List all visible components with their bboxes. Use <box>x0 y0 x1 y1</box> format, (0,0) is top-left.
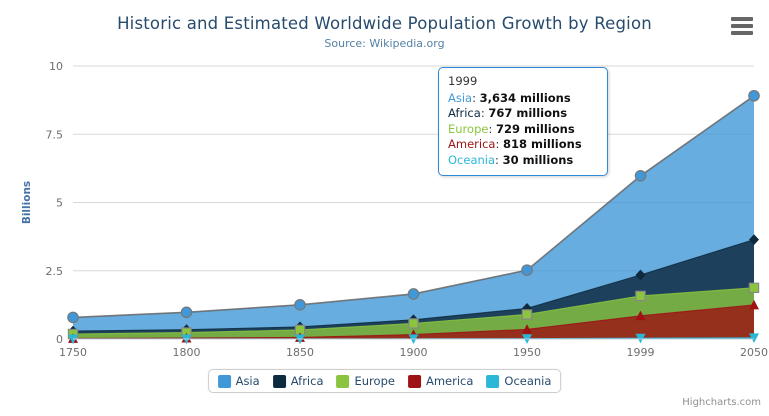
datapoint-europe-1900[interactable] <box>409 319 418 328</box>
x-axis-label-1999: 1999 <box>627 346 655 359</box>
legend-item-label: America <box>426 374 473 388</box>
menu-bar-3 <box>731 31 753 35</box>
legend-item-label: Asia <box>236 374 260 388</box>
legend-item-label: Europe <box>355 374 395 388</box>
datapoint-europe-2050[interactable] <box>749 283 758 292</box>
highcharts-container: Historic and Estimated Worldwide Populat… <box>0 0 769 416</box>
legend-item-asia[interactable]: Asia <box>218 374 260 388</box>
tooltip-row: Europe: 729 millions <box>448 122 598 138</box>
hamburger-menu-icon[interactable] <box>731 17 753 35</box>
y-axis-label-7.5: 7.5 <box>46 128 64 141</box>
tooltip-series-name: Asia <box>448 91 472 105</box>
tooltip-separator: : <box>495 137 503 151</box>
tooltip-series-name: Africa <box>448 106 481 120</box>
menu-bar-1 <box>731 17 753 21</box>
datapoint-asia-1750[interactable] <box>68 312 78 322</box>
tooltip-row: America: 818 millions <box>448 137 598 153</box>
tooltip-row: Oceania: 30 millions <box>448 153 598 169</box>
tooltip-series-value: 729 millions <box>496 122 575 136</box>
datapoint-europe-1950[interactable] <box>522 310 531 319</box>
tooltip-header: 1999 <box>448 74 598 90</box>
legend-item-africa[interactable]: Africa <box>273 374 324 388</box>
chart-tooltip: 1999 Asia: 3,634 millionsAfrica: 767 mil… <box>438 67 608 176</box>
legend-swatch-icon <box>486 375 499 388</box>
legend-swatch-icon <box>273 375 286 388</box>
datapoint-asia-1950[interactable] <box>522 265 532 275</box>
legend-swatch-icon <box>337 375 350 388</box>
datapoint-asia-1999[interactable] <box>635 171 645 181</box>
tooltip-series-value: 818 millions <box>503 137 582 151</box>
datapoint-asia-1850[interactable] <box>295 300 305 310</box>
menu-bar-2 <box>731 24 753 28</box>
legend-item-label: Oceania <box>504 374 551 388</box>
x-axis-label-2050: 2050 <box>740 346 768 359</box>
tooltip-row: Asia: 3,634 millions <box>448 91 598 107</box>
y-axis-label-10: 10 <box>49 60 63 73</box>
chart-plot-area[interactable]: 02.557.5101750180018501900195019992050Bi… <box>0 0 769 416</box>
x-axis-label-1900: 1900 <box>400 346 428 359</box>
x-axis-label-1750: 1750 <box>59 346 87 359</box>
tooltip-series-value: 3,634 millions <box>480 91 571 105</box>
y-axis-label-2.5: 2.5 <box>46 265 64 278</box>
datapoint-asia-1800[interactable] <box>181 307 191 317</box>
x-axis-label-1800: 1800 <box>173 346 201 359</box>
tooltip-rows: Asia: 3,634 millionsAfrica: 767 millions… <box>448 91 598 169</box>
y-axis-label-5: 5 <box>56 197 63 210</box>
legend-item-label: Africa <box>291 374 324 388</box>
tooltip-series-name: Oceania <box>448 153 495 167</box>
legend-item-oceania[interactable]: Oceania <box>486 374 551 388</box>
datapoint-asia-1900[interactable] <box>408 289 418 299</box>
tooltip-series-name: America <box>448 137 495 151</box>
highcharts-credits[interactable]: Highcharts.com <box>682 397 761 408</box>
chart-legend: AsiaAfricaEuropeAmericaOceania <box>208 369 562 393</box>
legend-item-europe[interactable]: Europe <box>337 374 395 388</box>
tooltip-separator: : <box>472 91 480 105</box>
tooltip-separator: : <box>488 122 496 136</box>
legend-swatch-icon <box>408 375 421 388</box>
y-axis-label-0: 0 <box>56 333 63 346</box>
tooltip-series-value: 767 millions <box>488 106 567 120</box>
legend-item-america[interactable]: America <box>408 374 473 388</box>
datapoint-europe-1999[interactable] <box>636 291 645 300</box>
tooltip-series-value: 30 millions <box>503 153 574 167</box>
y-axis-title: Billions <box>21 181 33 224</box>
tooltip-row: Africa: 767 millions <box>448 106 598 122</box>
legend-swatch-icon <box>218 375 231 388</box>
datapoint-asia-2050[interactable] <box>749 91 759 101</box>
chart-title: Historic and Estimated Worldwide Populat… <box>0 14 769 33</box>
tooltip-separator: : <box>495 153 503 167</box>
chart-subtitle: Source: Wikipedia.org <box>0 37 769 50</box>
x-axis-label-1850: 1850 <box>286 346 314 359</box>
x-axis-label-1950: 1950 <box>513 346 541 359</box>
tooltip-series-name: Europe <box>448 122 488 136</box>
